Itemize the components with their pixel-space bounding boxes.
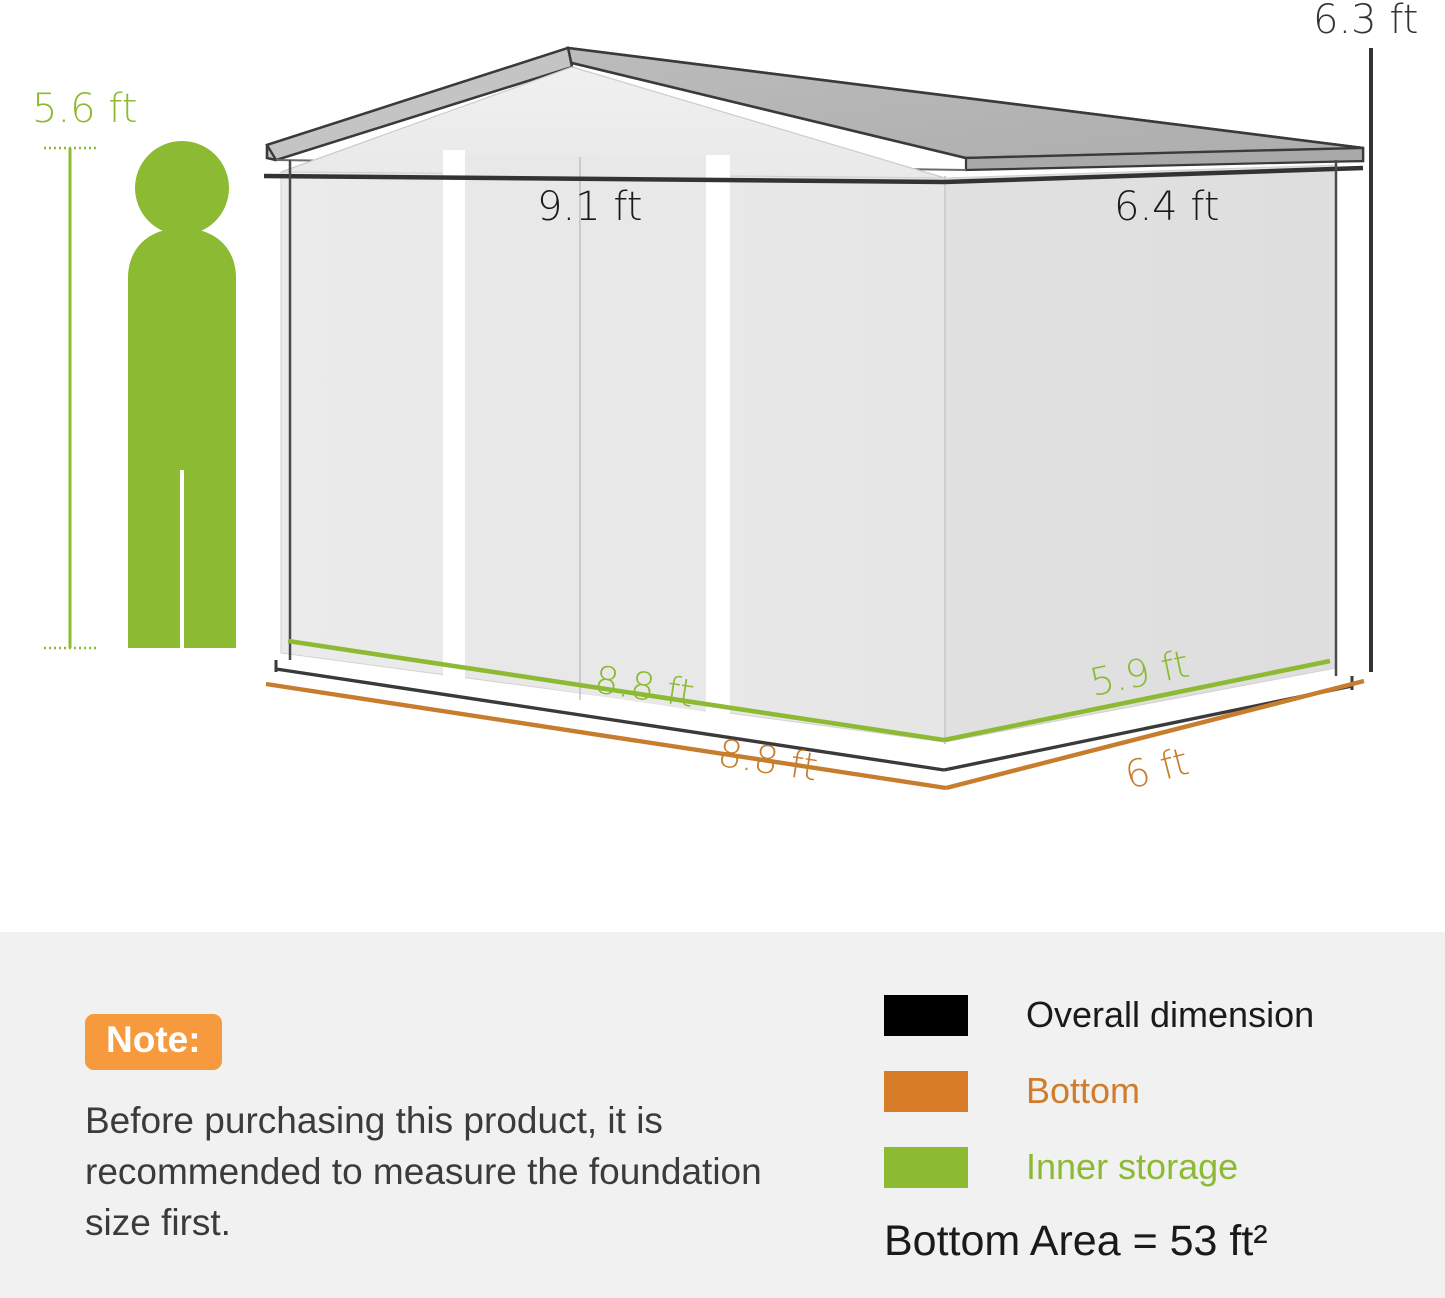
legend-swatch-inner-icon (884, 1147, 968, 1188)
dimension-label-bottom-width: 8.8 ft (715, 731, 821, 790)
shed-diagram-svg: 5.6 ft (0, 0, 1445, 932)
shed-dimension-infographic: 5.6 ft (0, 0, 1445, 1298)
legend-label-bottom: Bottom (1026, 1070, 1140, 1112)
dimension-label-person-height: 5.6 ft (32, 86, 137, 132)
note-text: Before purchasing this product, it is re… (85, 1095, 765, 1248)
legend-row-bottom: Bottom (884, 1053, 1404, 1129)
person-silhouette (128, 141, 236, 648)
dimension-label-overall-height: 6.3 ft (1313, 0, 1418, 43)
legend-label-inner: Inner storage (1026, 1146, 1238, 1188)
legend-label-overall: Overall dimension (1026, 994, 1314, 1036)
legend-row-inner: Inner storage (884, 1129, 1404, 1205)
legend-swatch-overall-icon (884, 995, 968, 1036)
dimension-person-height (44, 148, 98, 648)
legend-row-overall: Overall dimension (884, 977, 1404, 1053)
info-panel: Note: Before purchasing this product, it… (0, 932, 1445, 1298)
note-badge: Note: (85, 1014, 222, 1070)
legend: Overall dimension Bottom Inner storage (884, 977, 1404, 1205)
dimension-label-overall-width: 9.1 ft (537, 184, 642, 230)
dimension-label-bottom-depth: 6 ft (1120, 739, 1193, 798)
diagram-area: 5.6 ft (0, 0, 1445, 932)
note-block: Note: Before purchasing this product, it… (85, 1014, 775, 1248)
bottom-area-text: Bottom Area = 53 ft² (884, 1217, 1268, 1266)
legend-swatch-bottom-icon (884, 1071, 968, 1112)
dimension-label-overall-depth: 6.4 ft (1114, 184, 1219, 230)
